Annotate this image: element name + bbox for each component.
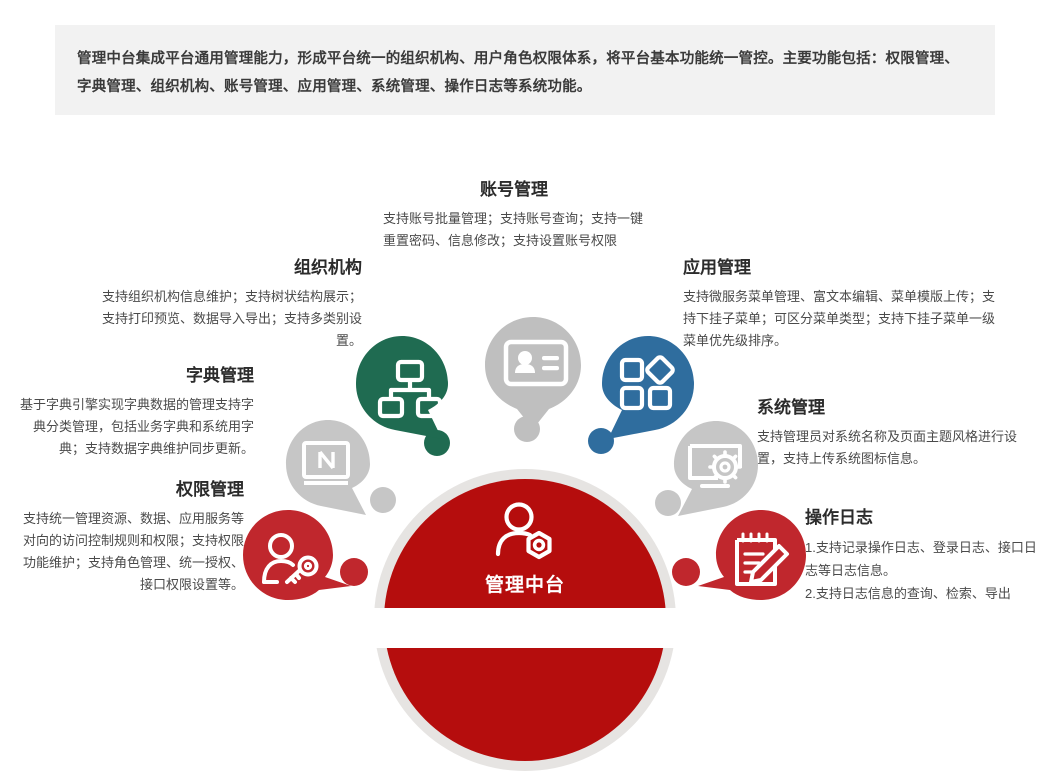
callout-body-account: 支持账号批量管理；支持账号查询；支持一键重置密码、信息修改；支持设置账号权限 bbox=[383, 208, 645, 252]
callout-title-dict: 字典管理 bbox=[14, 364, 254, 388]
callout-title-permission: 权限管理 bbox=[14, 478, 244, 502]
pin-dict[interactable] bbox=[283, 417, 388, 522]
dict-pin-shape bbox=[283, 417, 388, 522]
callout-body-permission: 支持统一管理资源、数据、应用服务等对向的访问控制规则和权限；支持权限功能维护；支… bbox=[14, 508, 244, 596]
intro-banner: 管理中台集成平台通用管理能力，形成平台统一的组织机构、用户角色权限体系，将平台基… bbox=[55, 25, 995, 115]
account-pin-shape bbox=[479, 315, 591, 427]
permission-pin-shape bbox=[243, 508, 359, 606]
user-gear-icon bbox=[493, 500, 557, 564]
pin-permission[interactable] bbox=[243, 508, 359, 606]
callout-body-system: 支持管理员对系统名称及页面主题风格进行设置，支持上传系统图标信息。 bbox=[757, 426, 1037, 470]
callout-title-app: 应用管理 bbox=[683, 256, 1003, 280]
callout-title-org: 组织机构 bbox=[100, 256, 362, 280]
infographic-canvas: 管理中台集成平台通用管理能力，形成平台统一的组织机构、用户角色权限体系，将平台基… bbox=[0, 0, 1051, 636]
callout-system: 系统管理 支持管理员对系统名称及页面主题风格进行设置，支持上传系统图标信息。 bbox=[757, 396, 1037, 470]
callout-log: 操作日志 1.支持记录操作日志、登录日志、接口日志等日志信息。 2.支持日志信息… bbox=[805, 506, 1045, 605]
callout-title-account: 账号管理 bbox=[383, 178, 645, 202]
hub-content: 管理中台 bbox=[384, 500, 666, 600]
callout-permission: 权限管理 支持统一管理资源、数据、应用服务等对向的访问控制规则和权限；支持权限功… bbox=[14, 478, 244, 596]
callout-org: 组织机构 支持组织机构信息维护；支持树状结构展示；支持打印预览、数据导入导出；支… bbox=[100, 256, 362, 352]
callout-app: 应用管理 支持微服务菜单管理、富文本编辑、菜单模版上传；支持下挂子菜单；可区分菜… bbox=[683, 256, 1003, 352]
callout-title-system: 系统管理 bbox=[757, 396, 1037, 420]
callout-body-dict: 基于字典引擎实现字典数据的管理支持字典分类管理，包括业务字典和系统用字典；支持数… bbox=[14, 394, 254, 460]
intro-text: 管理中台集成平台通用管理能力，形成平台统一的组织机构、用户角色权限体系，将平台基… bbox=[77, 45, 969, 101]
callout-title-log: 操作日志 bbox=[805, 506, 1045, 530]
callout-body-app: 支持微服务菜单管理、富文本编辑、菜单模版上传；支持下挂子菜单；可区分菜单类型；支… bbox=[683, 286, 1003, 352]
callout-dict: 字典管理 基于字典引擎实现字典数据的管理支持字典分类管理，包括业务字典和系统用字… bbox=[14, 364, 254, 460]
hub-label: 管理中台 bbox=[485, 570, 565, 597]
hub-baseline-mask bbox=[370, 608, 682, 648]
log-pin-shape bbox=[690, 508, 806, 606]
pin-account[interactable] bbox=[479, 315, 591, 427]
callout-body-org: 支持组织机构信息维护；支持树状结构展示；支持打印预览、数据导入导出；支持多类别设… bbox=[100, 286, 362, 352]
callout-account: 账号管理 支持账号批量管理；支持账号查询；支持一键重置密码、信息修改；支持设置账… bbox=[383, 178, 645, 252]
callout-body-log: 1.支持记录操作日志、登录日志、接口日志等日志信息。 2.支持日志信息的查询、检… bbox=[805, 536, 1045, 605]
pin-log[interactable] bbox=[690, 508, 806, 606]
